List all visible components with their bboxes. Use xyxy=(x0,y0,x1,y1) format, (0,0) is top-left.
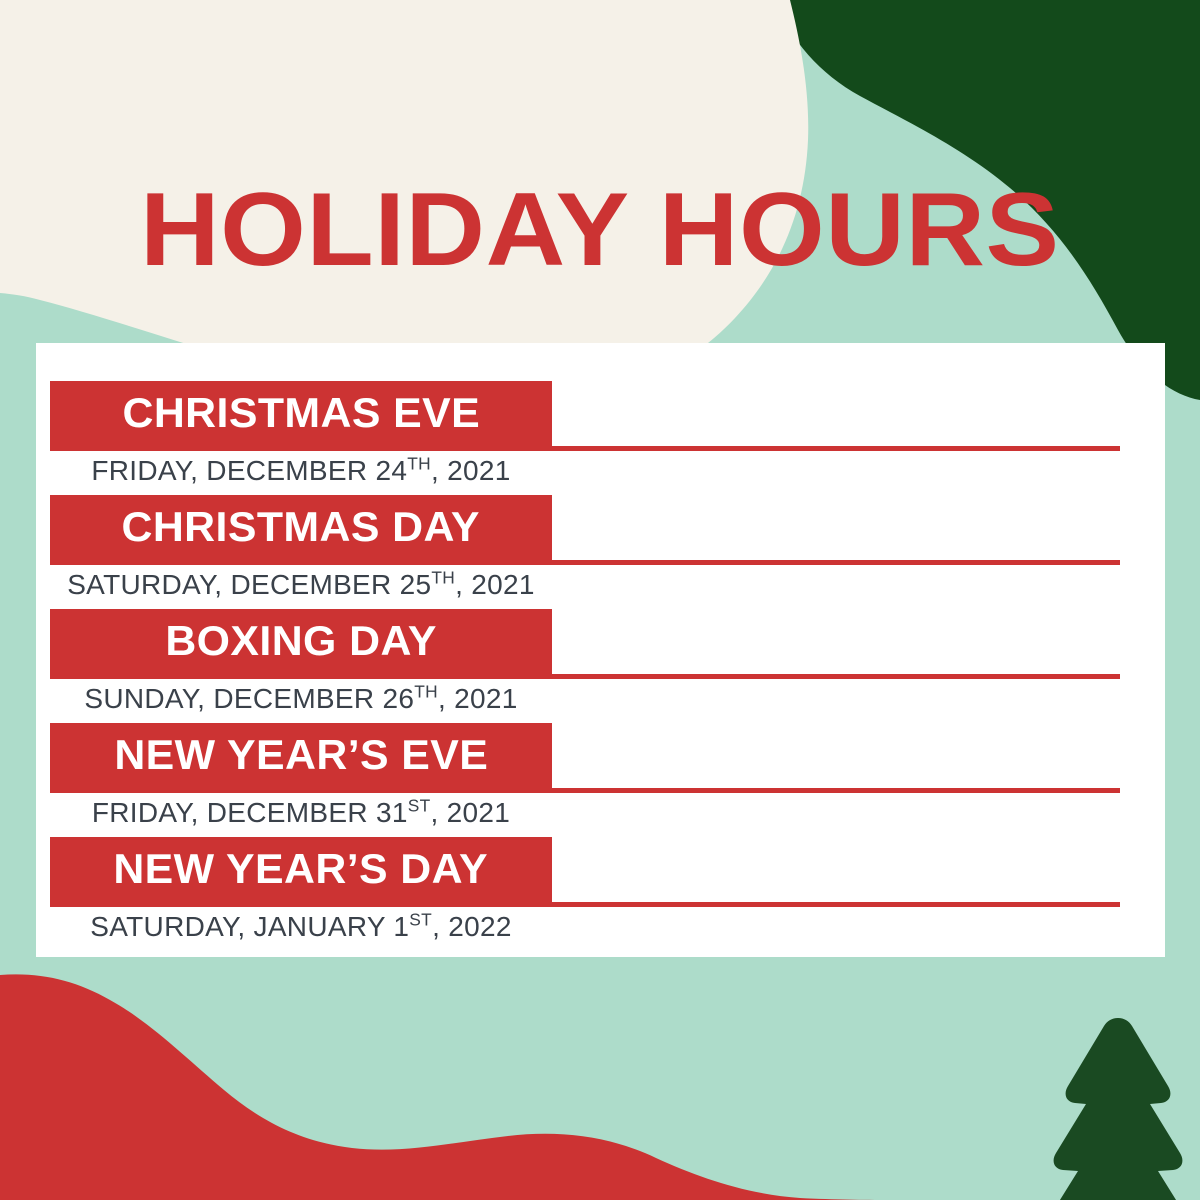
holiday-name-banner: NEW YEAR’S DAY xyxy=(50,837,552,904)
holiday-date-ordinal: ST xyxy=(409,910,432,930)
holiday-date-ordinal: TH xyxy=(407,454,431,474)
holiday-date-year: , 2021 xyxy=(431,797,511,828)
holiday-name-banner: CHRISTMAS DAY xyxy=(50,495,552,562)
holiday-name-banner: NEW YEAR’S EVE xyxy=(50,723,552,790)
holiday-name-label: NEW YEAR’S EVE xyxy=(114,734,488,776)
schedule-rows: CHRISTMAS EVE FRIDAY, DECEMBER 24TH, 202… xyxy=(36,343,1165,957)
holiday-name-label: NEW YEAR’S DAY xyxy=(114,848,489,890)
holiday-date-weekday: FRIDAY, DECEMBER 31 xyxy=(92,797,408,828)
schedule-row: CHRISTMAS EVE FRIDAY, DECEMBER 24TH, 202… xyxy=(36,381,1165,495)
holiday-date-text: SUNDAY, DECEMBER 26TH, 2021 xyxy=(50,681,552,716)
holiday-name-label: BOXING DAY xyxy=(165,620,436,662)
schedule-row: NEW YEAR’S DAY SATURDAY, JANUARY 1ST, 20… xyxy=(36,837,1165,951)
schedule-row: NEW YEAR’S EVE FRIDAY, DECEMBER 31ST, 20… xyxy=(36,723,1165,837)
holiday-name-label: CHRISTMAS EVE xyxy=(122,392,480,434)
holiday-date-year: , 2021 xyxy=(455,569,535,600)
holiday-date-ordinal: TH xyxy=(414,682,438,702)
schedule-row: CHRISTMAS DAY SATURDAY, DECEMBER 25TH, 2… xyxy=(36,495,1165,609)
holiday-date-year: , 2021 xyxy=(431,455,511,486)
holiday-date-text: SATURDAY, DECEMBER 25TH, 2021 xyxy=(50,567,552,602)
holiday-date-weekday: SATURDAY, DECEMBER 25 xyxy=(67,569,431,600)
holiday-name-label: CHRISTMAS DAY xyxy=(122,506,480,548)
holiday-date-year: , 2022 xyxy=(432,911,512,942)
holiday-date-weekday: SATURDAY, JANUARY 1 xyxy=(90,911,409,942)
holiday-date-ordinal: ST xyxy=(408,796,431,816)
holiday-date-weekday: SUNDAY, DECEMBER 26 xyxy=(84,683,414,714)
holiday-date-ordinal: TH xyxy=(431,568,455,588)
holiday-date-text: FRIDAY, DECEMBER 24TH, 2021 xyxy=(50,453,552,488)
holiday-hours-poster: HOLIDAY HOURS CHRISTMAS EVE FRIDAY, DECE… xyxy=(0,0,1200,1200)
holiday-date-year: , 2021 xyxy=(438,683,518,714)
holiday-date-weekday: FRIDAY, DECEMBER 24 xyxy=(91,455,407,486)
holiday-date-text: FRIDAY, DECEMBER 31ST, 2021 xyxy=(50,795,552,830)
holiday-name-banner: CHRISTMAS EVE xyxy=(50,381,552,448)
schedule-card: CHRISTMAS EVE FRIDAY, DECEMBER 24TH, 202… xyxy=(36,343,1165,957)
holiday-name-banner: BOXING DAY xyxy=(50,609,552,676)
holiday-date-text: SATURDAY, JANUARY 1ST, 2022 xyxy=(50,909,552,944)
schedule-row: BOXING DAY SUNDAY, DECEMBER 26TH, 2021 xyxy=(36,609,1165,723)
